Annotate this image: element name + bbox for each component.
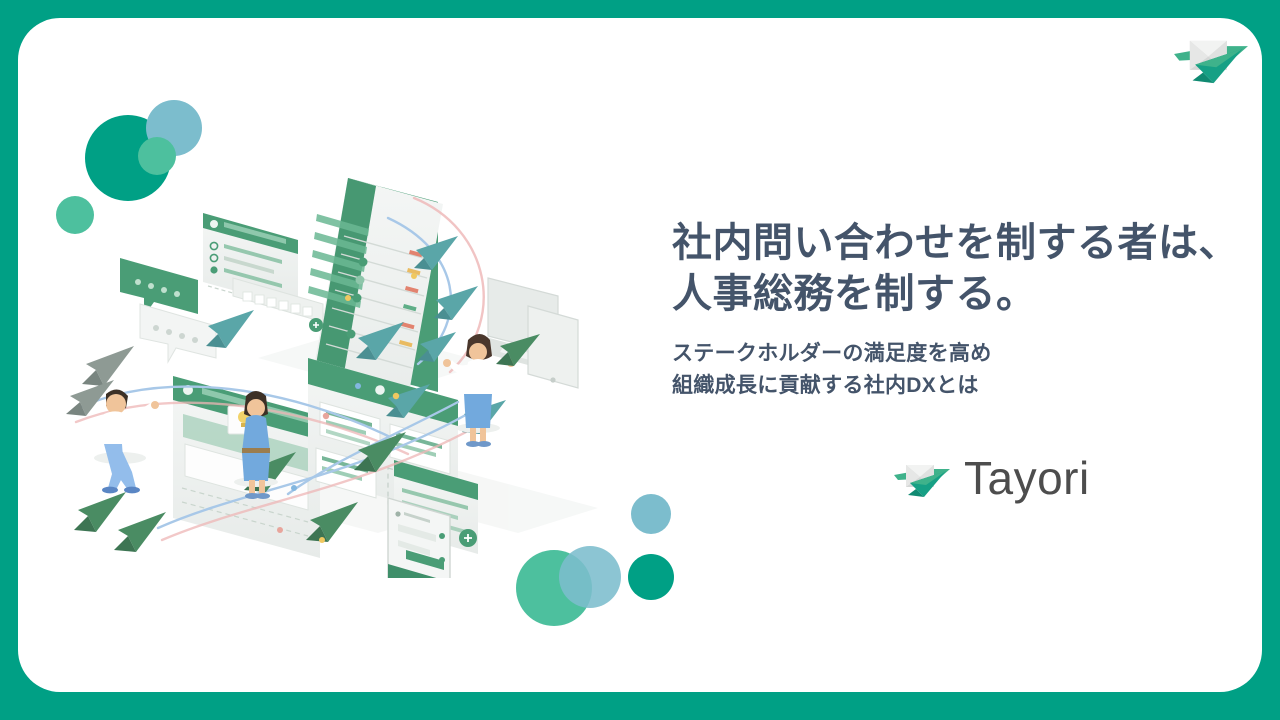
page-subtitle: ステークホルダーの満足度を高め 組織成長に貢献する社内DXとは <box>672 338 1262 401</box>
slide-root: 社内問い合わせを制する者は、 人事総務を制する。 ステークホルダーの満足度を高め… <box>0 0 1280 720</box>
page-title: 社内問い合わせを制する者は、 人事総務を制する。 <box>672 218 1262 320</box>
illus-person-man <box>94 389 159 493</box>
tayori-wordmark: Tayori <box>964 455 1090 501</box>
illus-chat-bubbles <box>120 258 216 362</box>
slide-white-panel: 社内問い合わせを制する者は、 人事総務を制する。 ステークホルダーの満足度を高め… <box>18 18 1262 692</box>
isometric-illustration <box>58 158 678 578</box>
text-content-column: 社内問い合わせを制する者は、 人事総務を制する。 ステークホルダーの満足度を高め… <box>672 18 1262 692</box>
illus-checklist-card <box>203 213 323 332</box>
corner-tayori-mark <box>1172 25 1250 91</box>
tayori-logo-lockup: Tayori <box>894 453 1090 503</box>
tayori-envelope-plane-icon <box>894 453 950 503</box>
